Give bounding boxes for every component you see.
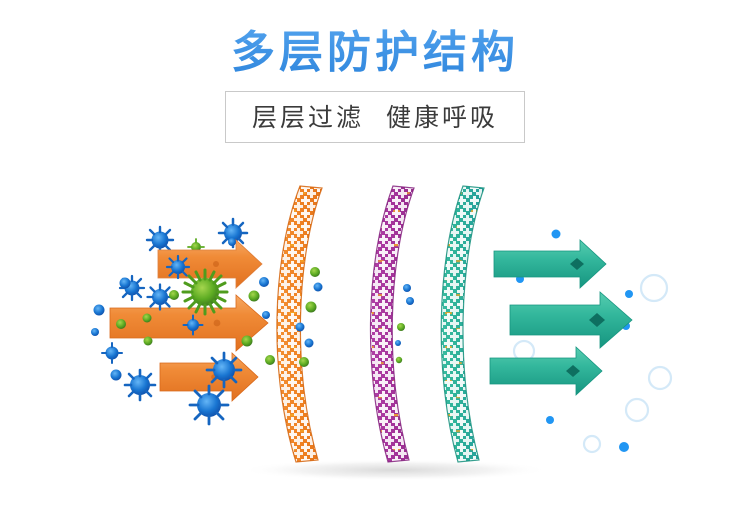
- particle-dot: [169, 290, 179, 300]
- virus-particle: [147, 227, 173, 253]
- virus-particle: [207, 353, 241, 387]
- virus-particle: [125, 370, 155, 400]
- bubble: [641, 275, 667, 301]
- particle-dot: [91, 328, 99, 336]
- particle-dot: [259, 277, 269, 287]
- clean-air-bubbles: [506, 254, 671, 452]
- contaminated-air-group: [91, 219, 290, 424]
- air-dot: [546, 416, 554, 424]
- virus-particle-large-green: [183, 270, 227, 314]
- particle-dot: [116, 319, 126, 329]
- virus-particle: [167, 256, 189, 278]
- particle-dot: [94, 305, 105, 316]
- particle-dot: [242, 336, 253, 347]
- particle-dot: [249, 291, 260, 302]
- trapped-particle: [403, 284, 411, 292]
- clean-air-group: [490, 230, 671, 453]
- air-dot: [552, 230, 561, 239]
- particle-dot: [111, 370, 122, 381]
- bubble: [626, 399, 648, 421]
- bubble: [584, 436, 600, 452]
- trapped-particle: [397, 323, 405, 331]
- trapped-particle: [306, 302, 317, 313]
- air-dot: [625, 290, 633, 298]
- virus-particle: [102, 343, 122, 363]
- trapped-particle: [296, 323, 305, 332]
- trapped-particle: [314, 283, 323, 292]
- illustration-canvas: 多层防护结构 层层过滤 健康呼吸: [0, 0, 750, 505]
- particle-dot: [144, 337, 153, 346]
- bubble: [649, 367, 671, 389]
- virus-particle: [148, 285, 173, 310]
- clean-air-arrow-3: [490, 347, 602, 395]
- clean-air-arrow-1: [494, 240, 606, 288]
- trapped-particles-group: [296, 267, 415, 367]
- particle-dot: [262, 311, 270, 319]
- air-dot: [619, 442, 629, 452]
- layer-ground-shadow: [240, 459, 550, 481]
- trapped-particle: [305, 339, 314, 348]
- clean-air-arrow-2: [510, 292, 632, 348]
- trapped-particle: [396, 357, 402, 363]
- filter-layer-middle: [350, 180, 430, 470]
- particle-dot: [143, 314, 152, 323]
- trapped-particle: [406, 297, 414, 305]
- trapped-particle: [299, 357, 309, 367]
- trapped-particle: [395, 340, 401, 346]
- particle-dot: [228, 238, 236, 246]
- filter-layer-inner: [420, 180, 500, 470]
- filtration-illustration: [0, 0, 750, 505]
- trapped-particle: [310, 267, 320, 277]
- virus-particle: [190, 386, 228, 424]
- particle-dot: [120, 278, 131, 289]
- particle-dot: [265, 355, 275, 365]
